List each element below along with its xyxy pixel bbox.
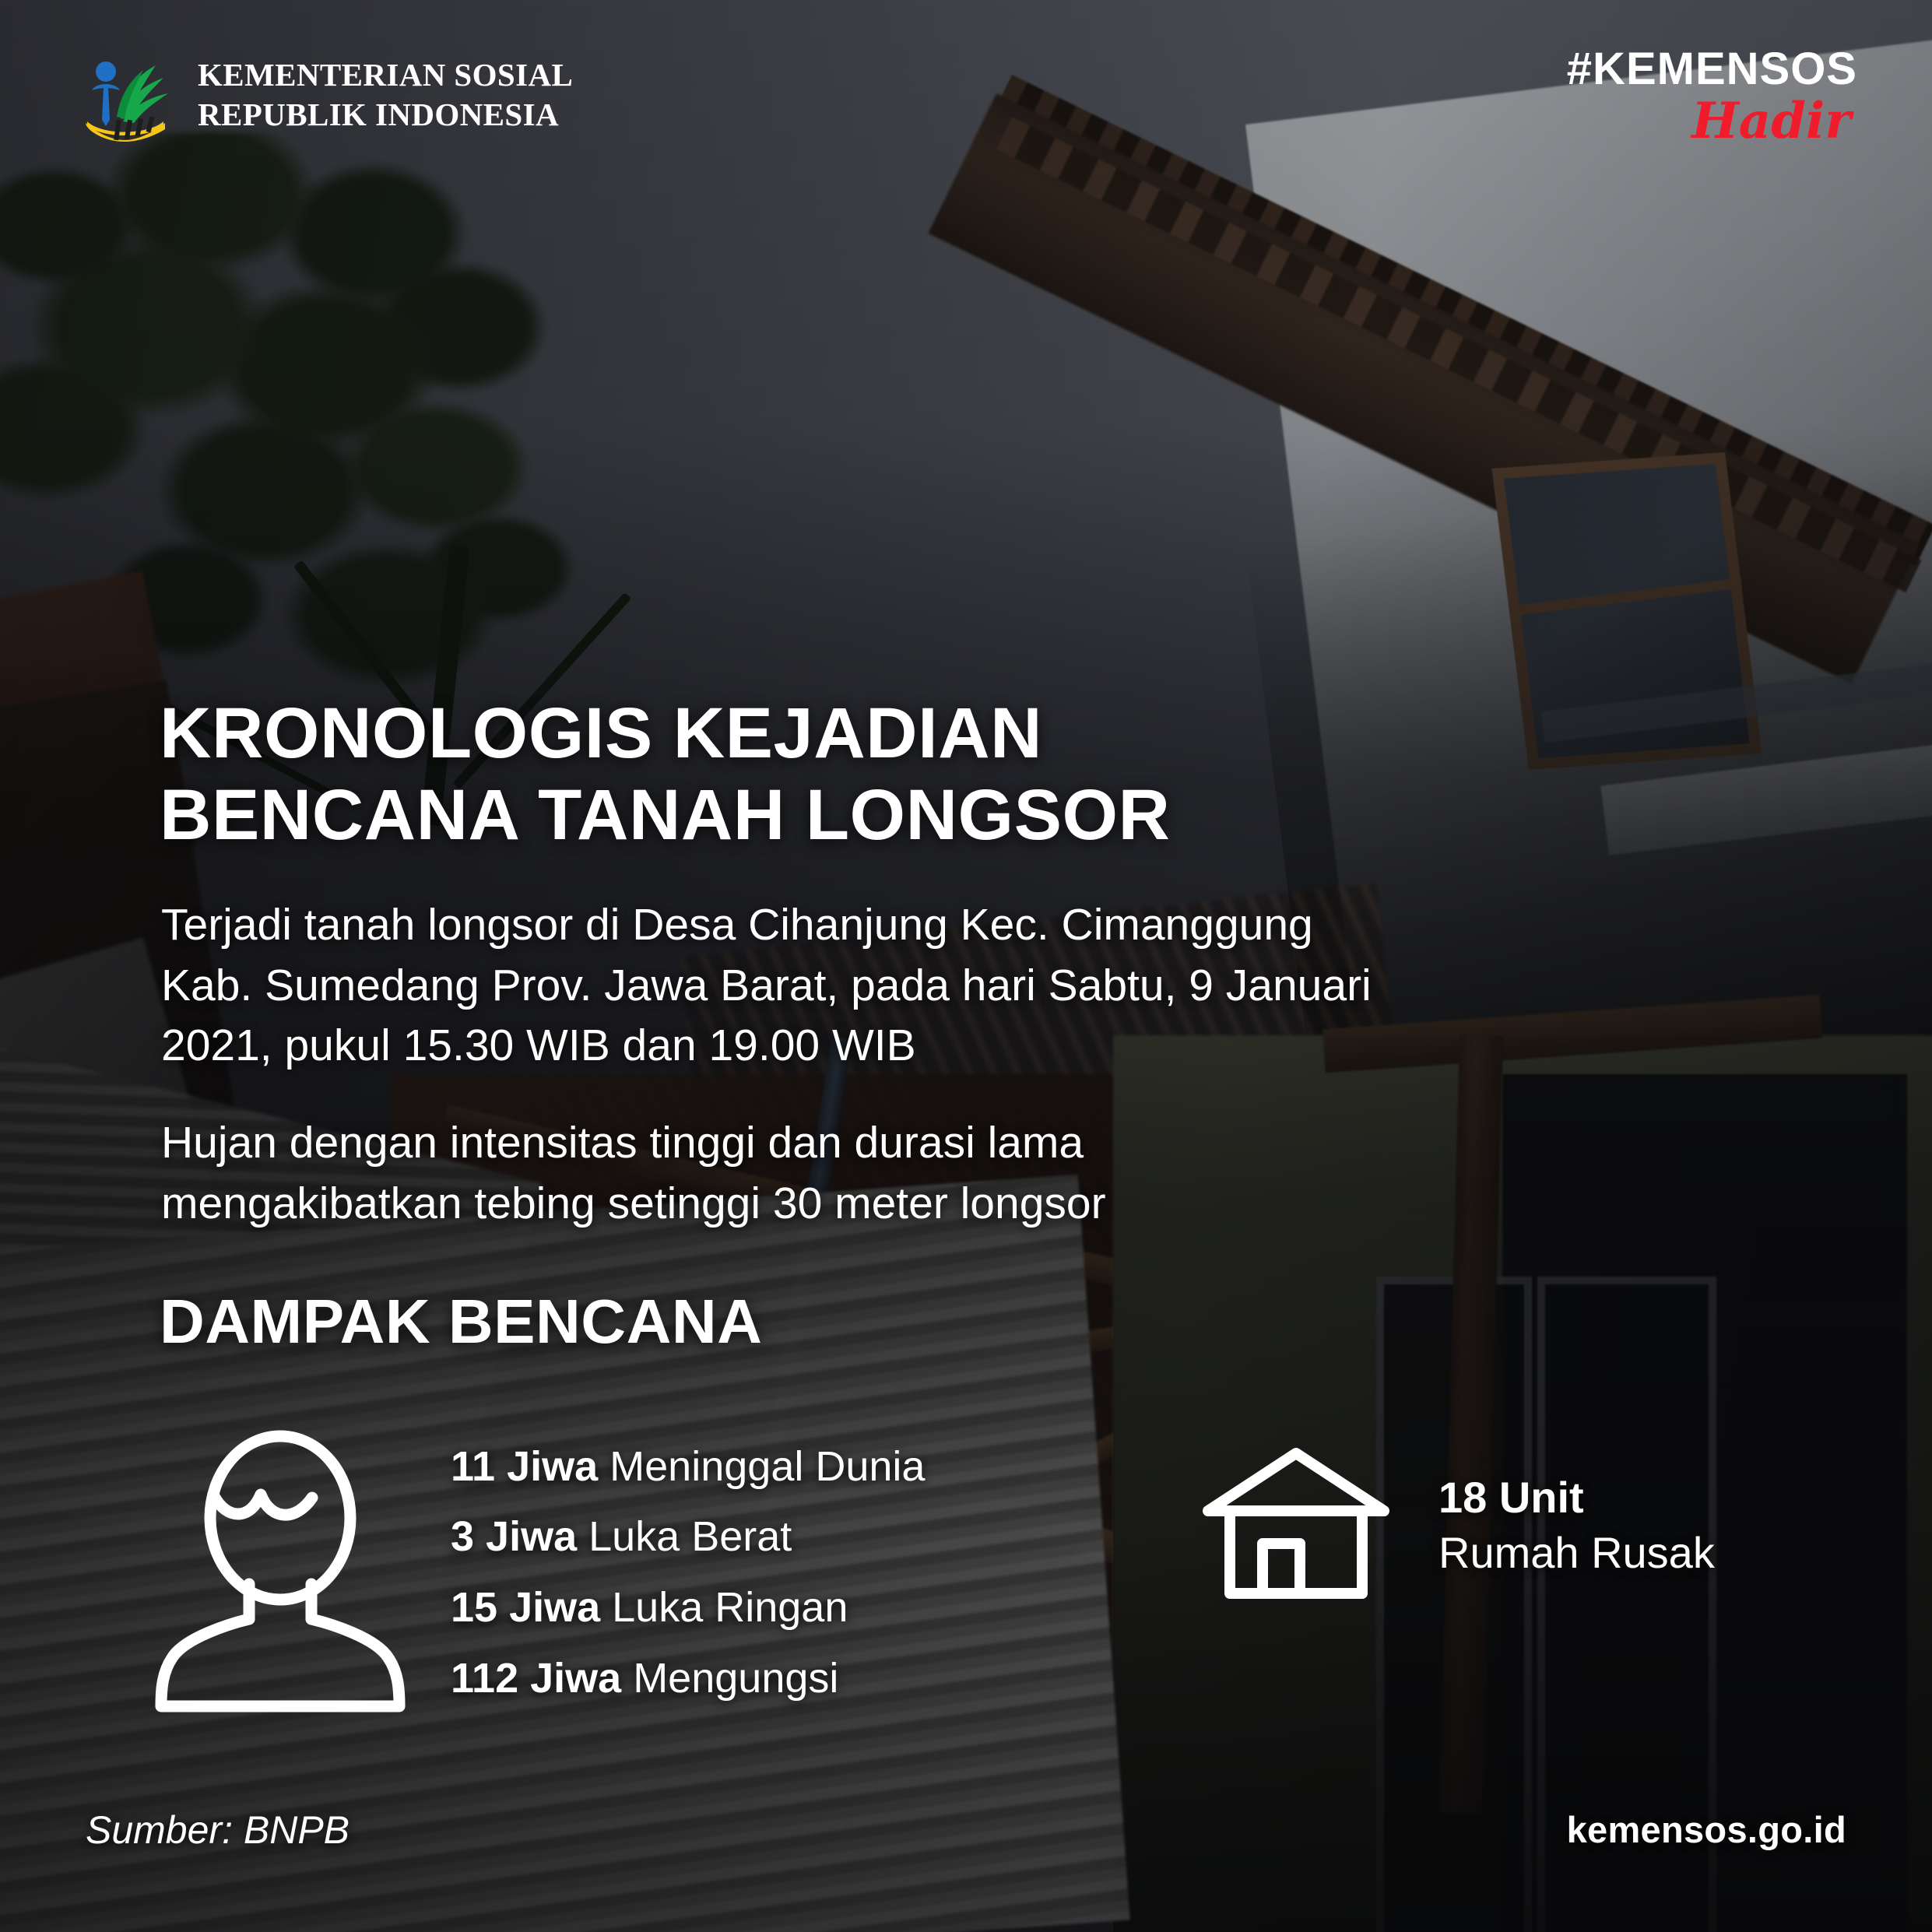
chronology-line-2: Kab. Sumedang Prov. Jawa Barat, pada har… bbox=[161, 956, 1372, 1017]
casualty-label: Luka Berat bbox=[588, 1513, 792, 1560]
cause-paragraph: Hujan dengan intensitas tinggi dan duras… bbox=[161, 1113, 1106, 1234]
list-item: 3 Jiwa Luka Berat bbox=[451, 1515, 925, 1559]
casualty-label: Luka Ringan bbox=[612, 1584, 848, 1631]
list-item: 112 Jiwa Mengungsi bbox=[451, 1656, 925, 1701]
chronology-paragraph: Terjadi tanah longsor di Desa Cihanjung … bbox=[161, 895, 1372, 1077]
kemensos-logo-icon bbox=[78, 48, 171, 142]
ministry-name-line2: REPUBLIK INDONESIA bbox=[198, 95, 573, 135]
house-label: Rumah Rusak bbox=[1438, 1526, 1715, 1581]
casualty-count: 3 Jiwa bbox=[451, 1513, 588, 1560]
casualty-count: 11 Jiwa bbox=[451, 1443, 609, 1490]
cause-line-1: Hujan dengan intensitas tinggi dan duras… bbox=[161, 1113, 1106, 1174]
campaign-hashtag: #KEMENSOS Hadir bbox=[1567, 47, 1857, 146]
infographic-poster: KEMENTERIAN SOSIAL REPUBLIK INDONESIA #K… bbox=[0, 0, 1932, 1932]
hashtag-text: #KEMENSOS bbox=[1567, 47, 1857, 92]
casualty-stats-group: 11 Jiwa Meninggal Dunia 3 Jiwa Luka Bera… bbox=[152, 1424, 925, 1720]
ministry-brand: KEMENTERIAN SOSIAL REPUBLIK INDONESIA bbox=[78, 48, 573, 142]
source-credit: Sumber: BNPB bbox=[86, 1807, 350, 1853]
casualty-list: 11 Jiwa Meninggal Dunia 3 Jiwa Luka Bera… bbox=[451, 1445, 925, 1701]
casualty-label: Mengungsi bbox=[633, 1655, 838, 1702]
ministry-name: KEMENTERIAN SOSIAL REPUBLIK INDONESIA bbox=[198, 55, 573, 135]
house-count: 18 Unit bbox=[1438, 1470, 1715, 1526]
poster-content: KEMENTERIAN SOSIAL REPUBLIK INDONESIA #K… bbox=[0, 0, 1932, 1932]
house-icon bbox=[1199, 1444, 1393, 1607]
cause-line-2: mengakibatkan tebing setinggi 30 meter l… bbox=[161, 1174, 1106, 1235]
page-title: KRONOLOGIS KEJADIAN BENCANA TANAH LONGSO… bbox=[160, 693, 1170, 856]
website-url[interactable]: kemensos.go.id bbox=[1567, 1808, 1846, 1851]
person-avatar-icon bbox=[152, 1424, 409, 1720]
page-title-line2: BENCANA TANAH LONGSOR bbox=[160, 775, 1170, 856]
casualty-count: 112 Jiwa bbox=[451, 1655, 633, 1702]
hashtag-script-text: Hadir bbox=[1567, 97, 1857, 146]
house-damage-text: 18 Unit Rumah Rusak bbox=[1438, 1470, 1715, 1580]
casualty-count: 15 Jiwa bbox=[451, 1584, 612, 1631]
casualty-label: Meninggal Dunia bbox=[609, 1443, 925, 1490]
ministry-name-line1: KEMENTERIAN SOSIAL bbox=[198, 55, 573, 95]
list-item: 11 Jiwa Meninggal Dunia bbox=[451, 1445, 925, 1489]
chronology-line-3: 2021, pukul 15.30 WIB dan 19.00 WIB bbox=[161, 1016, 1372, 1077]
list-item: 15 Jiwa Luka Ringan bbox=[451, 1586, 925, 1630]
impact-section-title: DAMPAK BENCANA bbox=[160, 1286, 762, 1358]
chronology-line-1: Terjadi tanah longsor di Desa Cihanjung … bbox=[161, 895, 1372, 956]
page-title-line1: KRONOLOGIS KEJADIAN bbox=[160, 693, 1170, 775]
house-damage-group: 18 Unit Rumah Rusak bbox=[1199, 1444, 1715, 1607]
